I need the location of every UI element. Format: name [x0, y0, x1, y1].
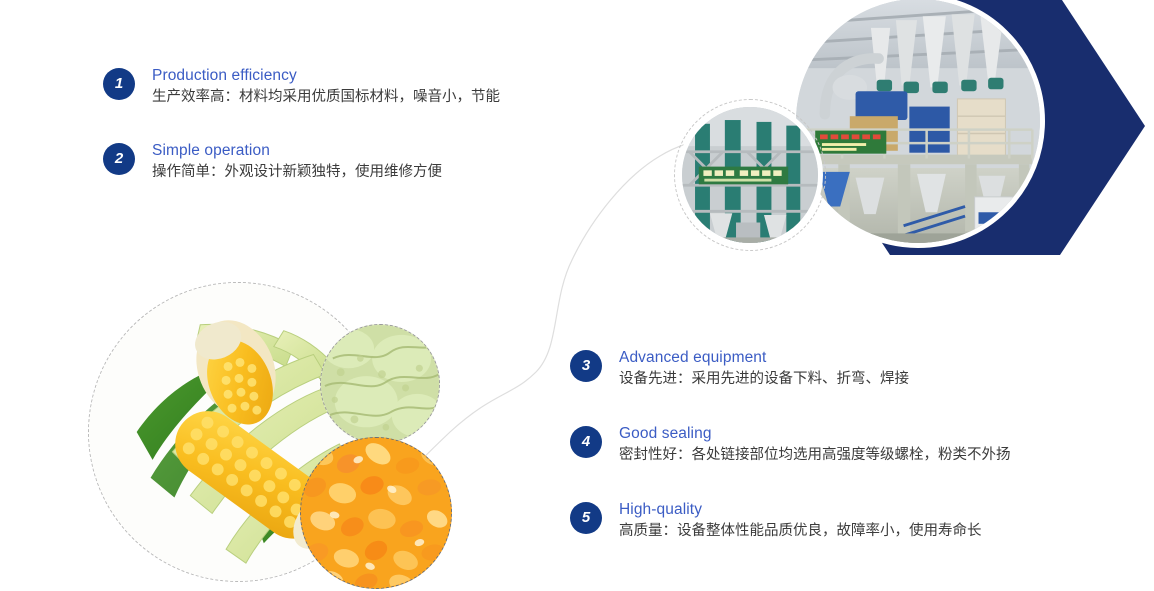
feature-row-2[interactable]: 2 Simple operation 操作简单：外观设计新颖独特，使用维修方便 — [103, 141, 623, 183]
feature-list-bottom: 3 Advanced equipment 设备先进：采用先进的设备下料、折弯、焊… — [570, 348, 1130, 542]
feature-list-top: 1 Production efficiency 生产效率高：材料均采用优质国标材… — [103, 66, 623, 183]
feature-title-4: Good sealing — [619, 424, 1011, 443]
corn-photo-cluster — [88, 282, 468, 591]
feature-text-1: Production efficiency 生产效率高：材料均采用优质国标材料，… — [152, 66, 500, 108]
feature-title-3: Advanced equipment — [619, 348, 909, 367]
feature-text-4: Good sealing 密封性好：各处链接部位均选用高强度等级螺栓，粉类不外扬 — [619, 424, 1011, 466]
feature-badge-1: 1 — [103, 68, 135, 100]
feature-desc-1: 生产效率高：材料均采用优质国标材料，噪音小，节能 — [152, 87, 500, 108]
orange-corn-grits-photo — [300, 437, 452, 589]
feature-row-5[interactable]: 5 High-quality 高质量：设备整体性能品质优良，故障率小，使用寿命长 — [570, 500, 1130, 542]
feature-badge-3: 3 — [570, 350, 602, 382]
feature-title-1: Production efficiency — [152, 66, 500, 85]
feature-badge-5: 5 — [570, 502, 602, 534]
feature-title-2: Simple operation — [152, 141, 442, 160]
feature-row-3[interactable]: 3 Advanced equipment 设备先进：采用先进的设备下料、折弯、焊… — [570, 348, 1130, 390]
feature-badge-4: 4 — [570, 426, 602, 458]
green-corn-paste-photo — [320, 324, 440, 444]
feature-text-5: High-quality 高质量：设备整体性能品质优良，故障率小，使用寿命长 — [619, 500, 982, 542]
factory-flour-mill-plant-photo — [791, 0, 1045, 248]
feature-desc-3: 设备先进：采用先进的设备下料、折弯、焊接 — [619, 369, 909, 390]
feature-text-3: Advanced equipment 设备先进：采用先进的设备下料、折弯、焊接 — [619, 348, 909, 390]
feature-row-1[interactable]: 1 Production efficiency 生产效率高：材料均采用优质国标材… — [103, 66, 623, 108]
feature-title-5: High-quality — [619, 500, 982, 519]
feature-row-4[interactable]: 4 Good sealing 密封性好：各处链接部位均选用高强度等级螺栓，粉类不… — [570, 424, 1130, 466]
feature-desc-2: 操作简单：外观设计新颖独特，使用维修方便 — [152, 162, 442, 183]
factory-photo-cluster — [676, 0, 1154, 276]
factory-green-mill-equipment-photo — [677, 102, 823, 248]
feature-text-2: Simple operation 操作简单：外观设计新颖独特，使用维修方便 — [152, 141, 442, 183]
feature-desc-5: 高质量：设备整体性能品质优良，故障率小，使用寿命长 — [619, 521, 982, 542]
feature-desc-4: 密封性好：各处链接部位均选用高强度等级螺栓，粉类不外扬 — [619, 445, 1011, 466]
infographic-page: 1 Production efficiency 生产效率高：材料均采用优质国标材… — [0, 0, 1154, 591]
feature-badge-2: 2 — [103, 143, 135, 175]
